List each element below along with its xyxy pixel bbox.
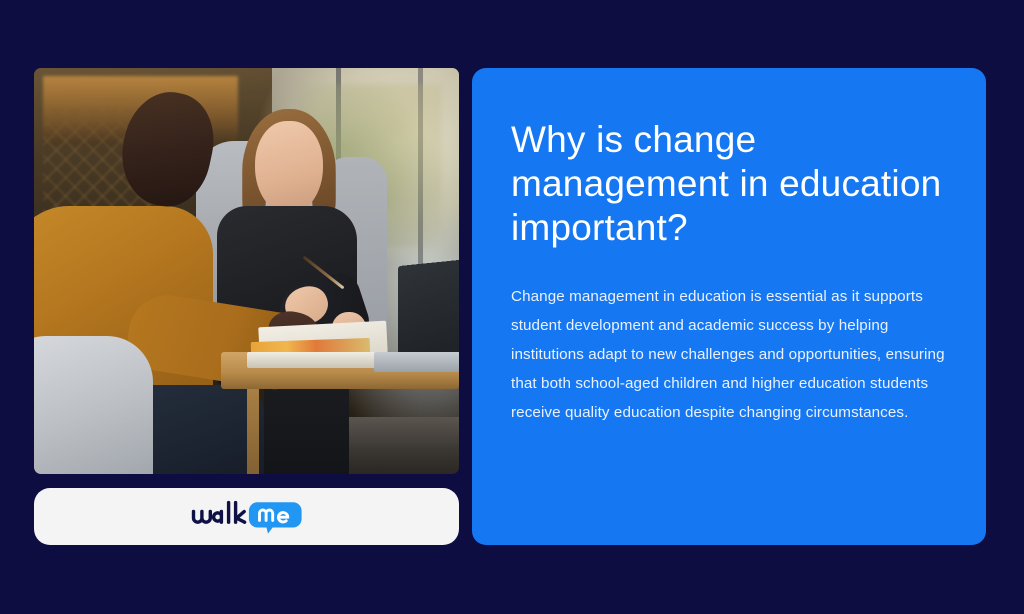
speech-bubble [248, 502, 301, 533]
laptop-screen [398, 259, 459, 364]
walkme-logo: walk me [191, 500, 303, 534]
body-paragraph: Change management in education is essent… [511, 282, 946, 427]
photo-card [34, 68, 459, 474]
slide-canvas: walk me Why is change management in educ… [0, 0, 1024, 614]
desk-leg [247, 389, 260, 474]
content-card: Why is change management in education im… [472, 68, 986, 545]
foreground-chair [34, 336, 153, 474]
laptop-base [374, 352, 459, 372]
woman-head [255, 121, 323, 214]
left-column: walk me [34, 68, 459, 545]
page-title: Why is change management in education im… [511, 118, 946, 250]
logo-card: walk me [34, 488, 459, 545]
office-photo [34, 68, 459, 474]
woman-legs [264, 385, 349, 474]
walkme-logo-mark [191, 500, 303, 534]
notebook [247, 352, 379, 368]
